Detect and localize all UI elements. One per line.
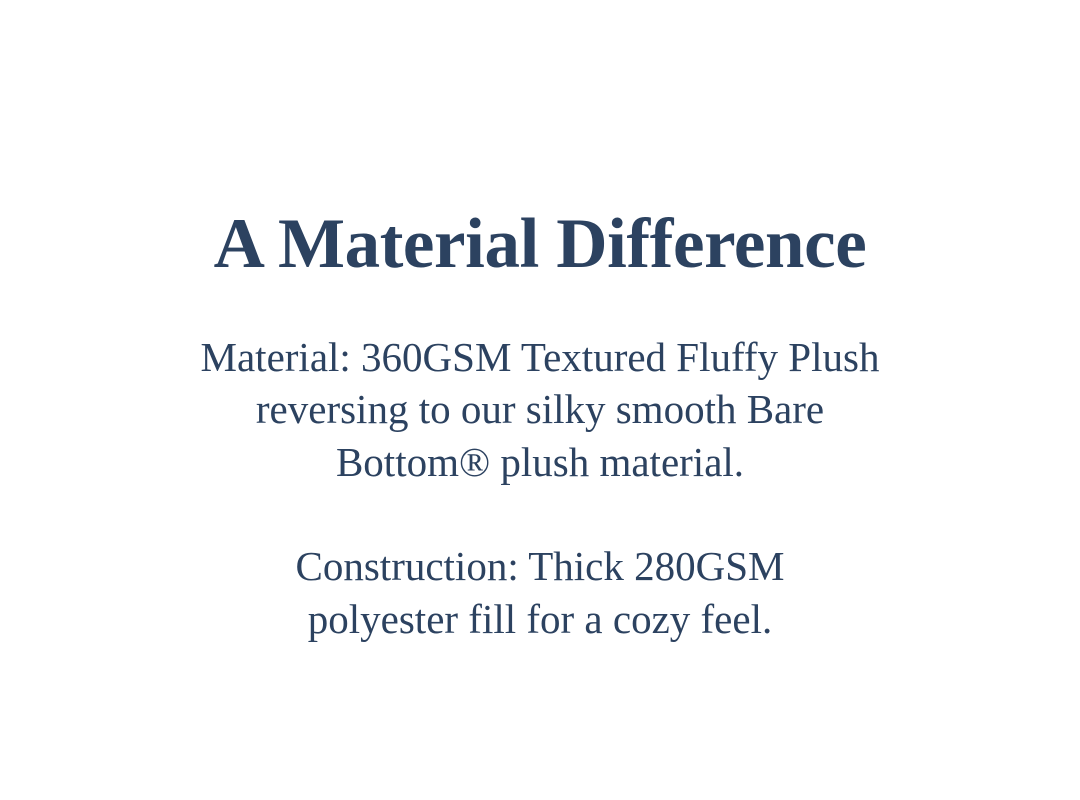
product-detail-slide: A Material Difference Material: 360GSM T… [0,0,1080,800]
paragraph-spacer [80,488,1000,540]
paragraph-material-line-1: Material: 360GSM Textured Fluffy Plush [80,331,1000,383]
page-title: A Material Difference [80,206,1000,283]
paragraph-material-line-3: Bottom® plush material. [80,436,1000,488]
paragraph-construction: Construction: Thick 280GSM polyester fil… [80,540,1000,645]
content-block: A Material Difference Material: 360GSM T… [80,206,1000,645]
body-copy: Material: 360GSM Textured Fluffy Plush r… [80,331,1000,645]
paragraph-material: Material: 360GSM Textured Fluffy Plush r… [80,331,1000,488]
paragraph-construction-line-2: polyester fill for a cozy feel. [80,593,1000,645]
paragraph-construction-line-1: Construction: Thick 280GSM [80,540,1000,592]
paragraph-material-line-2: reversing to our silky smooth Bare [80,383,1000,435]
